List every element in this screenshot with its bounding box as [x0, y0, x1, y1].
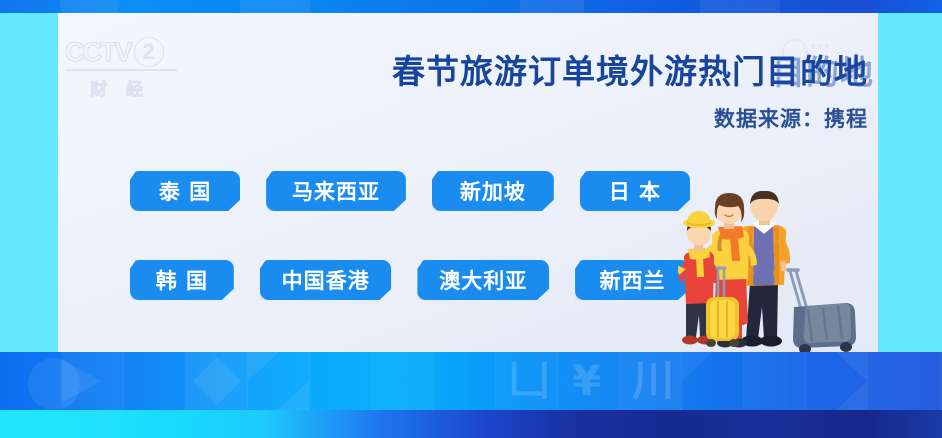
logo-underline	[65, 69, 177, 71]
destination-row-1: 泰 国 马来西亚 新加坡 日 本	[130, 170, 690, 212]
top-accent-strip	[0, 0, 942, 13]
dark-blue-suitcase	[788, 270, 856, 354]
broadcast-graphic: CCTV 2 财 经 ●●●●● 春节旅游订单境外游热门目的地 目的地 数据来源…	[0, 0, 942, 438]
bar-chart-glyph: 川	[632, 360, 674, 402]
currency-glyph-yen: ¥	[572, 360, 601, 402]
destination-grid: 泰 国 马来西亚 新加坡 日 本 韩 国 中国香港	[130, 170, 690, 301]
cctv-wordmark: CCTV	[65, 39, 131, 66]
bottom-band-lower-strip	[0, 410, 942, 438]
destination-pill-singapore[interactable]: 新加坡	[432, 171, 554, 211]
destination-pill-malaysia[interactable]: 马来西亚	[266, 171, 406, 211]
cctv-channel-logo: CCTV 2 财 经	[65, 37, 185, 99]
destination-pill-thailand[interactable]: 泰 国	[130, 171, 240, 211]
left-cyan-rail	[0, 13, 58, 358]
destination-label: 日 本	[605, 176, 665, 206]
destination-label: 澳大利亚	[435, 265, 531, 295]
destination-label: 韩 国	[152, 265, 212, 295]
destination-label: 新加坡	[456, 176, 530, 206]
data-source-label: 数据来源：携程	[338, 103, 868, 133]
bottom-decorative-band: 凵 ¥ 川	[0, 352, 942, 438]
channel-sub-char-2: 经	[126, 75, 144, 100]
destination-label: 新西兰	[596, 265, 670, 295]
currency-glyph-yen-secondary: 凵	[508, 360, 550, 402]
destination-pill-japan[interactable]: 日 本	[580, 171, 690, 211]
title-block: 春节旅游订单境外游热门目的地 目的地 数据来源：携程	[338, 45, 868, 133]
family-travelers-illustration	[678, 191, 868, 358]
destination-pill-hong-kong-china[interactable]: 中国香港	[260, 260, 392, 300]
destination-pill-australia[interactable]: 澳大利亚	[417, 260, 549, 300]
channel-number: 2	[134, 37, 164, 67]
destination-label: 中国香港	[278, 265, 374, 295]
destination-pill-south-korea[interactable]: 韩 国	[130, 260, 234, 300]
destination-row-2: 韩 国 中国香港 澳大利亚 新西兰	[130, 259, 690, 301]
destination-pill-new-zealand[interactable]: 新西兰	[575, 260, 690, 300]
destination-label: 马来西亚	[288, 176, 384, 206]
channel-sub-char-1: 财	[90, 75, 108, 100]
content-panel: CCTV 2 财 经 ●●●●● 春节旅游订单境外游热门目的地 目的地 数据来源…	[58, 13, 878, 358]
right-cyan-rail	[878, 13, 942, 358]
page-title: 春节旅游订单境外游热门目的地	[338, 45, 868, 93]
destination-label: 泰 国	[155, 176, 215, 206]
